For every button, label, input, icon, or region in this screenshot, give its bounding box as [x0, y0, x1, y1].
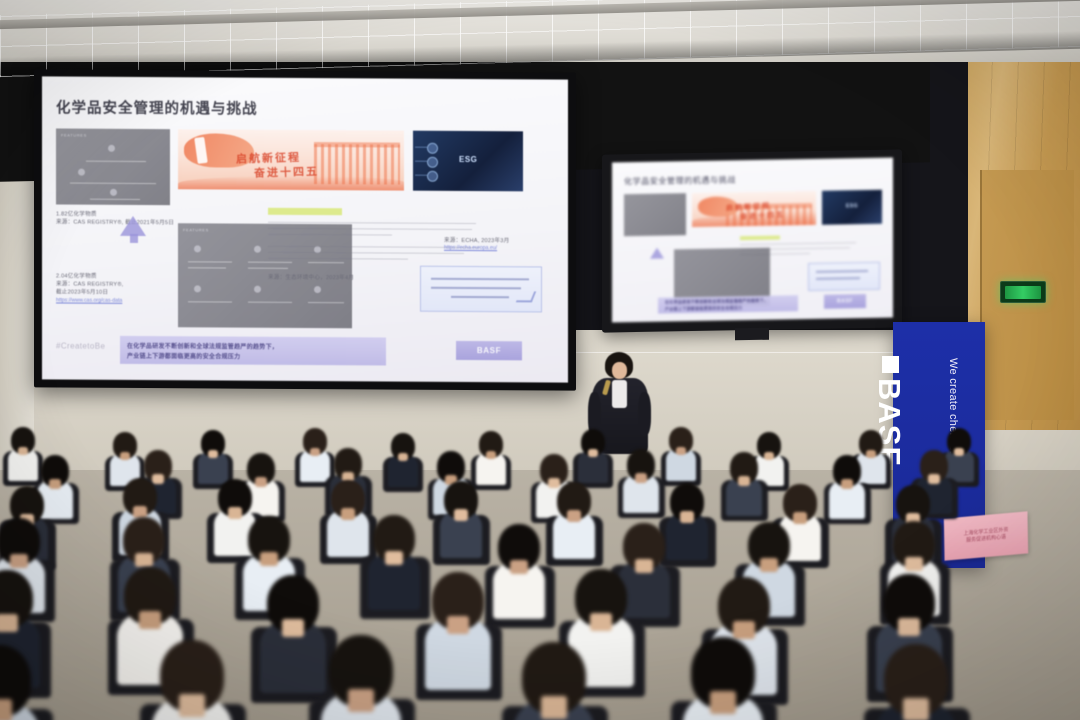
monitor-stand [735, 328, 769, 341]
audience-neck [635, 559, 653, 574]
slide-basf-logo: BASF [456, 341, 522, 360]
audience-neck [260, 552, 278, 567]
audience-neck [486, 451, 496, 459]
audience-neck [866, 450, 876, 458]
conference-room-photo: 化学品安全管理的机遇与挑战 FEATURES 启航新征程 奋进十四五 [0, 0, 1080, 720]
stat-bottom-source2: 截止2023年5月10日 [56, 288, 108, 297]
audience-neck [588, 449, 598, 457]
audience-neck [454, 509, 468, 521]
audience-neck [710, 691, 737, 713]
audience-neck [0, 614, 18, 632]
audience-neck [738, 476, 750, 486]
audience-neck [760, 558, 778, 573]
audience-neck [208, 450, 218, 458]
audience-neck [680, 511, 694, 523]
slide-image-esg: ESG [413, 131, 523, 192]
speaker-right-arm [638, 392, 651, 436]
audience-neck [676, 447, 686, 455]
audience-neck [928, 474, 940, 484]
audience-neck [898, 618, 920, 636]
callout-box [420, 266, 542, 313]
slide-bottom-banner: 在化学品研发不断创新和全球法规监管趋严的趋势下， 产业链上下游都面临更高的安全合… [120, 336, 386, 366]
slide-title: 化学品安全管理的机遇与挑战 [56, 96, 258, 118]
audience-neck [0, 699, 12, 720]
audience-neck [385, 551, 403, 566]
growth-arrow-tail [130, 234, 138, 243]
slide-basf-logo-text: BASF [477, 346, 501, 355]
audience-neck [764, 452, 774, 460]
audience-neck [228, 507, 242, 519]
features-label: FEATURES [61, 133, 87, 138]
audience-neck [139, 611, 161, 629]
features-label: FEATURES [183, 227, 209, 232]
secondary-monitor-screen: 化学品安全管理的机遇与挑战 启航新征程 奋进十四五 ESG 在化学品研发不断创新… [612, 158, 893, 323]
audience-neck [49, 479, 61, 489]
audience-neck [152, 474, 164, 484]
monitor-slide-title: 化学品安全管理的机遇与挑战 [624, 174, 736, 187]
audience-neck [10, 554, 28, 569]
audience-neck [510, 560, 528, 575]
speaker-face [612, 362, 627, 379]
audience-neck [135, 553, 153, 568]
slide-image-red-banner: 启航新征程 奋进十四五 [178, 129, 404, 190]
audience-neck [590, 613, 612, 631]
audience-neck [341, 508, 355, 520]
basf-square-icon [882, 356, 899, 373]
audience-neck [841, 479, 853, 489]
audience-neck [120, 452, 130, 460]
exit-sign-glow [1005, 286, 1041, 299]
audience-neck [282, 619, 304, 637]
audience-neck [447, 616, 469, 634]
audience-neck [548, 478, 560, 488]
audience-neck [733, 621, 755, 639]
highlighted-heading [268, 208, 342, 215]
bottom-banner-line1: 在化学品研发不断创新和全球法规监管趋严的趋势下， [127, 341, 278, 351]
slide-image-features-top: FEATURES [56, 128, 170, 205]
audience-neck [18, 447, 28, 455]
bottom-banner-line2: 产业链上下游都面临更高的安全合规压力 [127, 351, 240, 361]
reserved-seat-card: 上海化学工业区外资 服务促进机构心语 [944, 511, 1028, 560]
audience-neck [348, 689, 375, 711]
audience-neck [903, 698, 930, 720]
audience-neck [954, 448, 964, 456]
audience-neck [179, 694, 206, 716]
hashtag-createtobe: #CreatetoBe [56, 341, 105, 350]
check-icon [516, 291, 536, 302]
audience-neck [541, 696, 568, 718]
esg-label: ESG [459, 155, 477, 164]
audience-neck [635, 473, 647, 483]
projected-slide: 化学品安全管理的机遇与挑战 FEATURES 启航新征程 奋进十四五 [42, 76, 568, 382]
stat-top-source: 来源：CAS REGISTRY®, 截止2021年5月5日 [56, 218, 174, 227]
audience-neck [905, 557, 923, 572]
exit-sign [1000, 281, 1046, 303]
stat-bottom-link[interactable]: https://www.cas.org/cas-data [56, 297, 122, 303]
audience-neck [398, 453, 408, 461]
audience-neck [255, 477, 267, 487]
audience-neck [793, 512, 807, 524]
audience-neck [567, 510, 581, 522]
audience-neck [310, 448, 320, 456]
source-echa-link[interactable]: https://echa.europa.eu/ [444, 245, 497, 251]
speaker-shirt [612, 380, 627, 408]
source-center: 来源：生态环境中心，2023年4月 [268, 274, 354, 283]
